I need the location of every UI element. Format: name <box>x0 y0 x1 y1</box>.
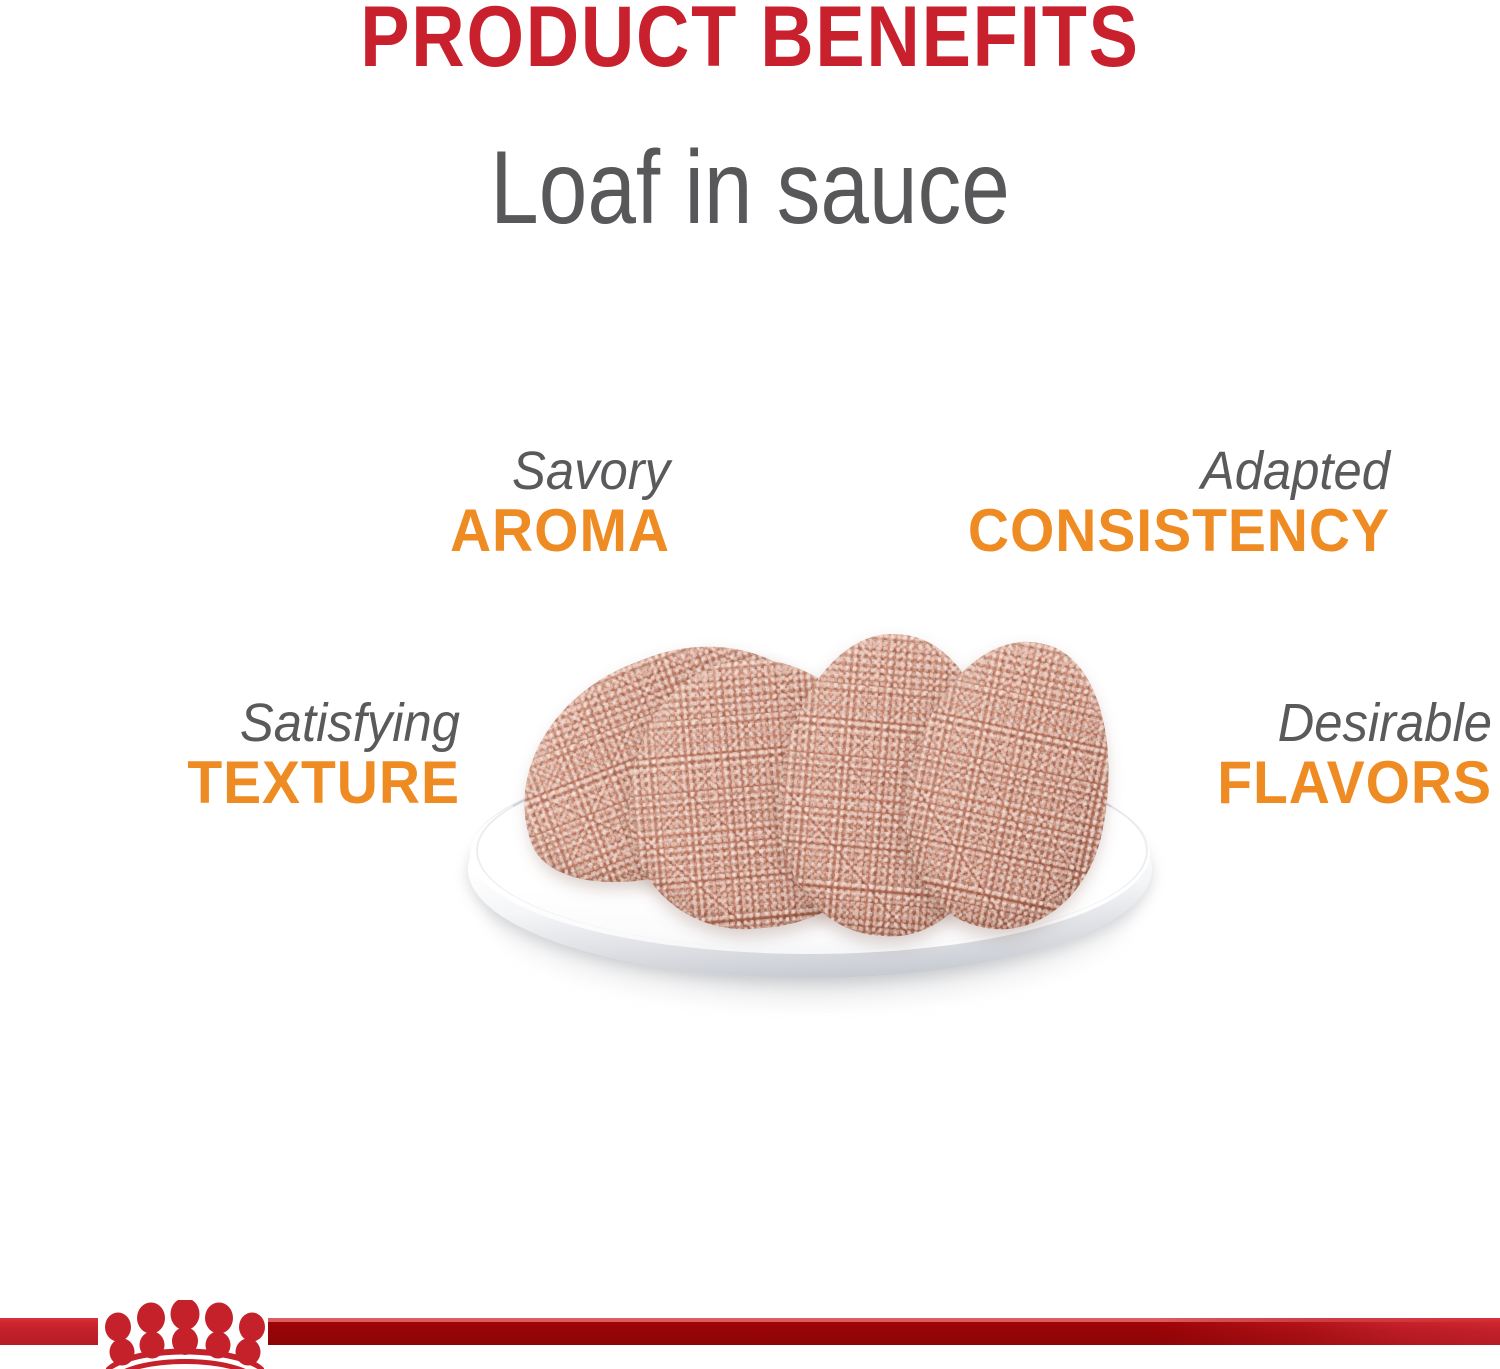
benefit-consistency-attribute: CONSISTENCY <box>953 499 1390 564</box>
brand-rule-right <box>268 1318 1500 1345</box>
brand-footer <box>0 1300 1500 1369</box>
benefit-texture-attribute: TEXTURE <box>118 751 460 816</box>
benefit-texture: Satisfying TEXTURE <box>100 696 460 816</box>
product-benefits-panel: PRODUCT BENEFITS Loaf in sauce Savory AR… <box>0 0 1500 1369</box>
benefit-aroma-qualifier: Savory <box>339 444 670 499</box>
brand-rule-left <box>0 1318 98 1345</box>
product-subtitle: Loaf in sauce <box>120 136 1380 240</box>
benefit-consistency-qualifier: Adapted <box>958 444 1390 499</box>
page-title: PRODUCT BENEFITS <box>105 0 1395 80</box>
benefit-aroma-attribute: AROMA <box>336 499 670 564</box>
benefit-aroma: Savory AROMA <box>318 444 670 564</box>
benefit-consistency: Adapted CONSISTENCY <box>930 444 1390 564</box>
royal-canin-crown-logo <box>92 1300 278 1369</box>
product-photo <box>440 612 1180 1052</box>
benefit-texture-qualifier: Satisfying <box>122 696 460 751</box>
